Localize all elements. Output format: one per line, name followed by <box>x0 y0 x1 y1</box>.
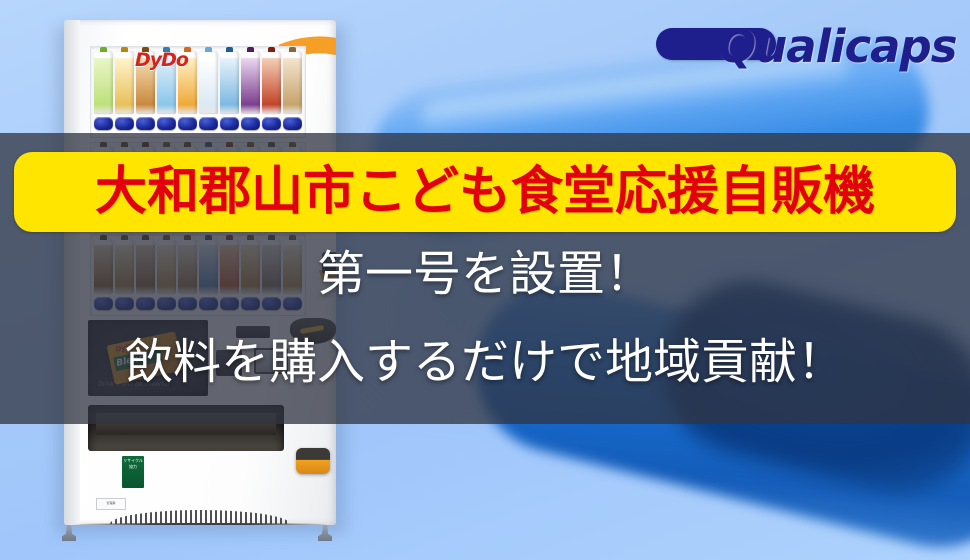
headline-banner: 大和郡山市こども食堂応援自販機 <box>14 152 956 232</box>
product-bottle <box>115 51 134 114</box>
product-bottle <box>262 51 281 114</box>
subheadline-line-2: 飲料を購入するだけで地域貢献！ <box>0 338 970 386</box>
selection-button[interactable] <box>283 117 302 130</box>
product-bottle <box>220 51 239 114</box>
selection-button-row-top[interactable] <box>94 117 302 130</box>
dydo-brand-logo: DyDo <box>135 49 188 71</box>
recycle-sticker: リサイクル 協力 <box>122 456 144 488</box>
qualicaps-logo[interactable]: Qualicaps <box>654 17 954 77</box>
selection-button[interactable] <box>178 117 197 130</box>
selection-button[interactable] <box>94 117 113 130</box>
selection-button[interactable] <box>136 117 155 130</box>
product-bottle <box>283 51 302 114</box>
headline-text: 大和郡山市こども食堂応援自販機 <box>95 166 875 218</box>
ventilation-grille <box>110 510 290 524</box>
machine-base-line <box>74 523 326 525</box>
product-bottle <box>94 51 113 114</box>
selection-button[interactable] <box>241 117 260 130</box>
product-display-top: DyDo <box>90 46 306 138</box>
product-bottle <box>199 51 218 114</box>
banner-canvas: DyDo <box>0 0 970 560</box>
selection-button[interactable] <box>115 117 134 130</box>
selection-button[interactable] <box>262 117 281 130</box>
selection-button[interactable] <box>199 117 218 130</box>
product-bottle <box>241 51 260 114</box>
selection-button[interactable] <box>220 117 239 130</box>
qualicaps-wordmark: Qualicaps <box>718 17 957 77</box>
coin-return-tray[interactable] <box>296 448 330 474</box>
subheadline-line-1: 第一号を設置！ <box>0 250 970 298</box>
product-row-top <box>94 51 302 114</box>
management-label: 管理票 <box>96 498 126 510</box>
selection-button[interactable] <box>157 117 176 130</box>
